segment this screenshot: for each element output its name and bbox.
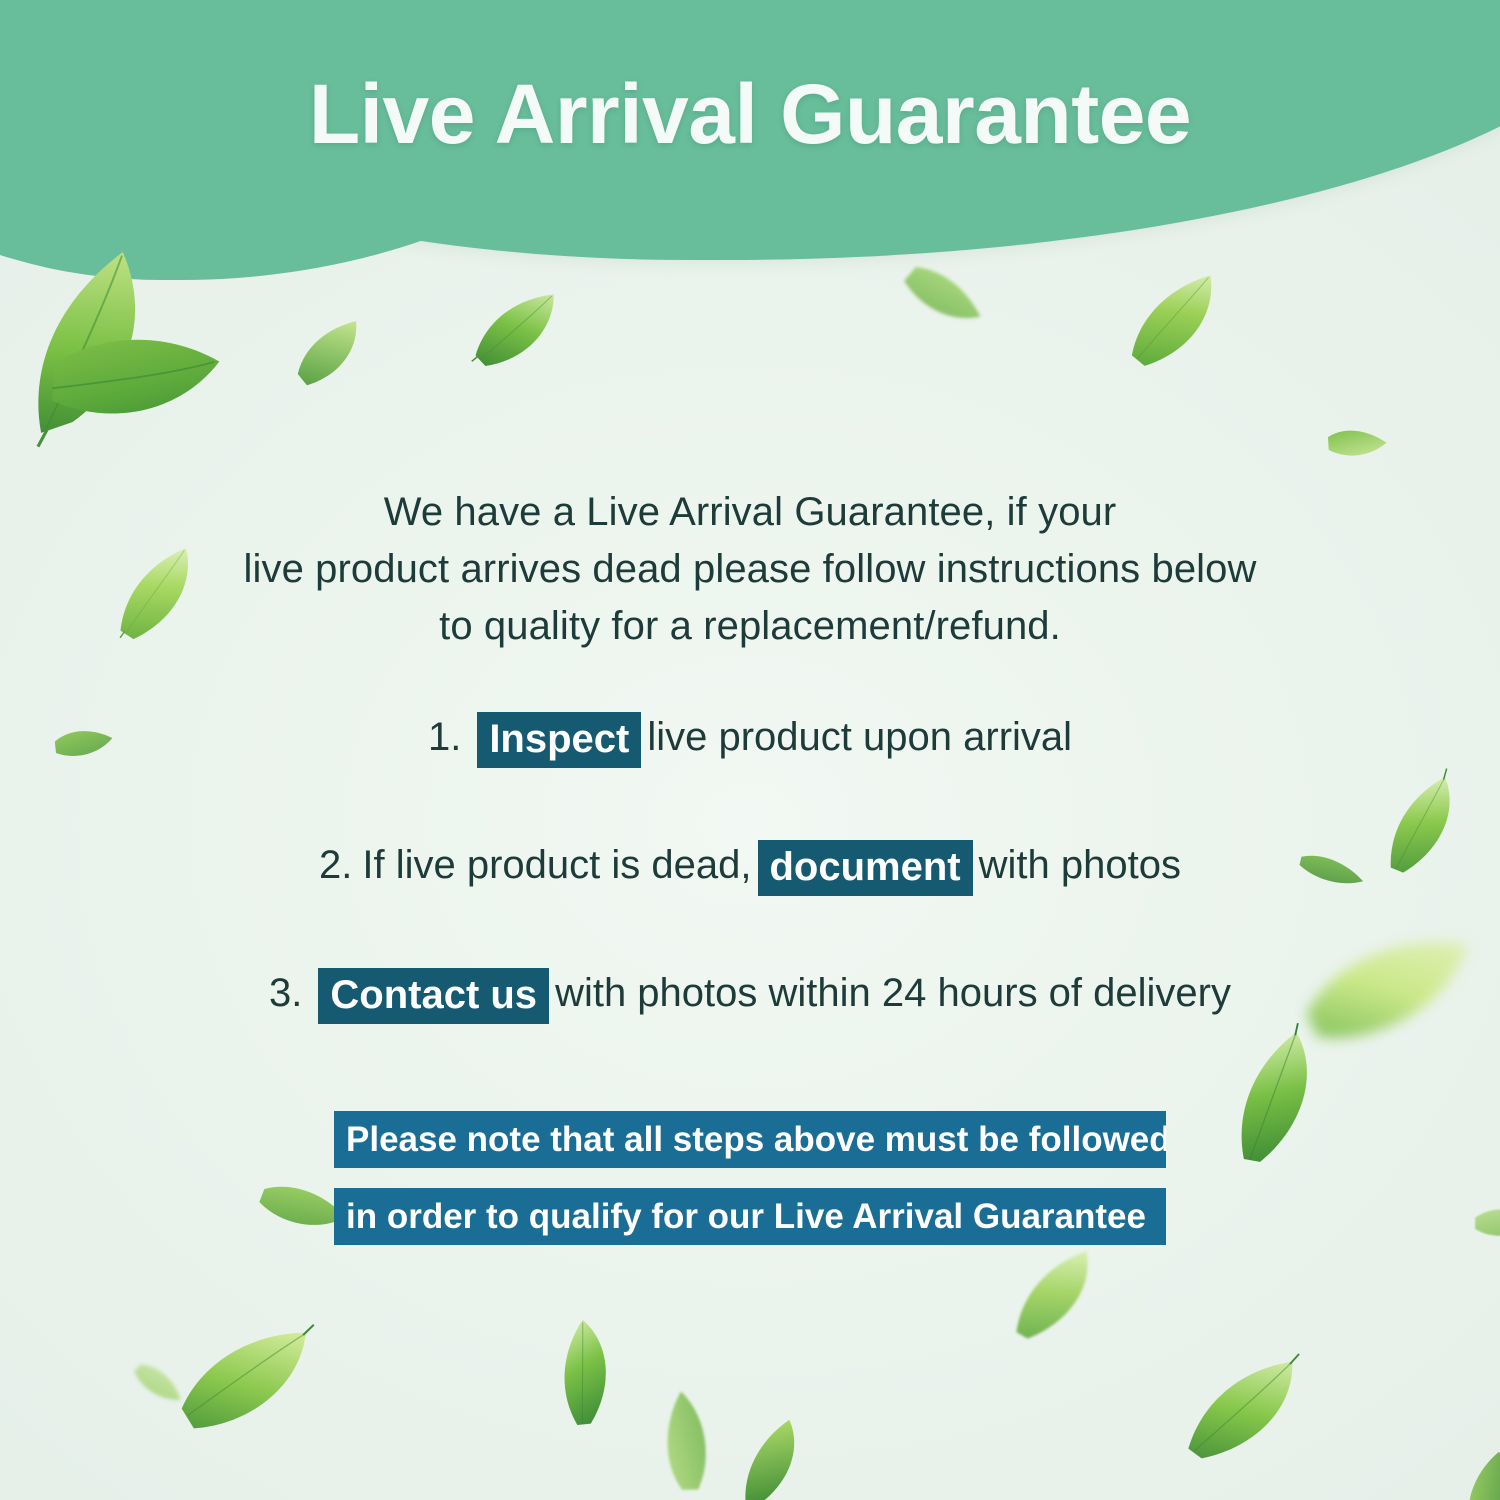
leaf-icon	[34, 297, 226, 464]
note-line-2: in order to qualify for our Live Arrival…	[334, 1188, 1166, 1245]
step-number-2: 2.	[319, 843, 352, 887]
step-item-2: 2.If live product is dead,documentwith p…	[0, 840, 1500, 896]
step-number-3: 3.	[269, 971, 302, 1015]
intro-line-3: to quality for a replacement/refund.	[0, 598, 1500, 655]
note-divider	[334, 1168, 1166, 1188]
leaf-icon	[651, 1386, 731, 1498]
intro-line-1: We have a Live Arrival Guarantee, if you…	[0, 484, 1500, 541]
leaf-icon	[897, 249, 986, 345]
leaf-icon	[1165, 1352, 1320, 1473]
step-text-before-2: If live product is dead,	[362, 843, 751, 887]
live-arrival-guarantee-graphic: Live Arrival Guarantee	[0, 0, 1500, 1500]
leaf-icon	[284, 317, 374, 391]
leaf-icon	[1323, 422, 1391, 468]
leaf-icon	[1469, 1197, 1500, 1254]
intro-line-2: live product arrives dead please follow …	[0, 541, 1500, 598]
step-item-3: 3.Contact uswith photos within 24 hours …	[0, 968, 1500, 1024]
leaf-icon	[1447, 1445, 1500, 1500]
intro-paragraph: We have a Live Arrival Guarantee, if you…	[0, 484, 1500, 655]
step-number-1: 1.	[428, 715, 461, 759]
note-banner: Please note that all steps above must be…	[334, 1111, 1166, 1245]
step-text-after-1: live product upon arrival	[647, 715, 1072, 759]
steps-list: 1.Inspectlive product upon arrival 2.If …	[0, 712, 1500, 1096]
step-item-1: 1.Inspectlive product upon arrival	[0, 712, 1500, 768]
step-highlight-inspect[interactable]: Inspect	[477, 712, 641, 768]
leaf-icon	[460, 287, 571, 374]
step-text-after-2: with photos	[979, 843, 1181, 887]
leaf-icon	[530, 1312, 640, 1437]
leaf-icon	[991, 1244, 1117, 1351]
note-line-1: Please note that all steps above must be…	[334, 1111, 1166, 1168]
leaf-icon	[165, 1321, 329, 1443]
leaf-icon	[1109, 268, 1240, 377]
step-highlight-contact-us[interactable]: Contact us	[318, 968, 549, 1024]
page-title: Live Arrival Guarantee	[0, 72, 1500, 156]
leaf-icon	[126, 1352, 188, 1418]
leaf-icon	[718, 1413, 825, 1500]
step-highlight-document[interactable]: document	[758, 840, 973, 896]
step-text-after-3: with photos within 24 hours of delivery	[555, 971, 1231, 1015]
